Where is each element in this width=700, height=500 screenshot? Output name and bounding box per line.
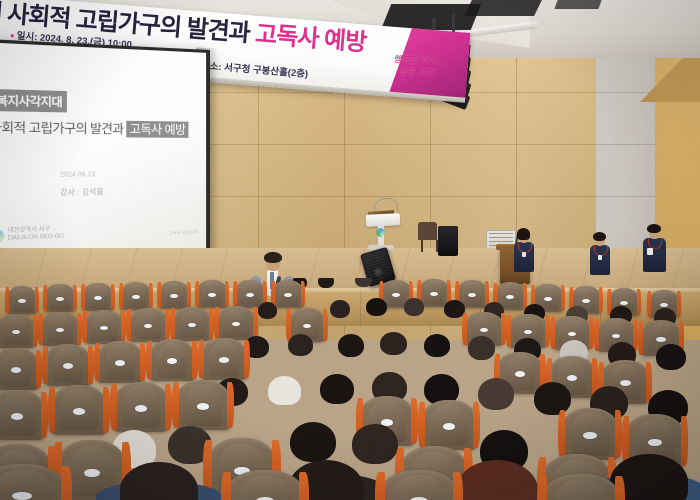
seat: [0, 348, 40, 390]
ceiling-dark-panel: [554, 0, 601, 9]
audience-head: [366, 298, 387, 316]
seat: [40, 312, 80, 346]
audience-head: [380, 332, 407, 355]
audience-head: [258, 302, 277, 319]
auditorium-photo: 대 사회적 고립가구의 발견과 고독사 예방 일시: 2024. 8. 23.(…: [0, 0, 700, 500]
seat-number-label: [506, 295, 513, 299]
slide-org-line2: DAEJEON SEO-GU: [8, 233, 64, 243]
seat: [0, 390, 46, 440]
seat-number-label: [12, 492, 32, 500]
seogu-logo-icon: [0, 230, 4, 243]
slide-date: 2024.08.23.: [60, 172, 97, 179]
slide-lecturer: 강사 : 김석률: [60, 187, 103, 198]
bullet-icon: [11, 34, 14, 37]
banner-title-highlight: 고독사 예방: [254, 21, 367, 57]
projection-screen-frame: 복지사각지대 사회적 고립가구의 발견과 고독사 예방 2024.08.23. …: [0, 39, 210, 267]
audience-head: [468, 336, 495, 360]
slide-tag: 복지사각지대: [0, 89, 67, 112]
seat-number-label: [583, 432, 596, 439]
seat: [44, 344, 92, 386]
seat: [0, 314, 36, 348]
projection-screen: 복지사각지대 사회적 고립가구의 발견과 고독사 예방 2024.08.23. …: [0, 42, 206, 262]
audience-head: [355, 278, 372, 287]
seat-number-label: [84, 469, 100, 478]
banner-slogan-line2: 일등 서구: [379, 66, 453, 80]
seat: [128, 308, 168, 342]
seat-number-label: [208, 293, 215, 297]
stage-equipment-box: [438, 226, 458, 256]
seat-number-label: [170, 294, 177, 298]
seat: [96, 341, 144, 383]
seat: [272, 280, 304, 308]
seat: [50, 385, 108, 435]
staff-badge: [522, 252, 526, 257]
audience-head: [290, 422, 336, 462]
slide-org-logo: 대전광역시 서구 DAEJEON SEO-GU: [0, 226, 64, 244]
seat: [82, 283, 114, 311]
seat: [84, 310, 124, 344]
audience-head: [478, 378, 514, 410]
slide-corner-note: 고독사 예방교육: [168, 229, 198, 236]
seat-number-label: [544, 297, 551, 301]
ceiling-dark-panel: [464, 0, 542, 16]
seat: [200, 338, 248, 380]
staff-papers: [647, 248, 653, 255]
seat-number-label: [392, 293, 399, 297]
seat-number-label: [468, 293, 475, 297]
banner-slogan: 행복한 혁신, 일등 서구: [379, 54, 454, 80]
seat: [216, 306, 256, 340]
seat-number-label: [620, 301, 627, 305]
seat: [148, 339, 196, 381]
seat: [112, 382, 170, 432]
seat-number-label: [18, 299, 25, 303]
lectern-emblem-icon: [376, 228, 385, 237]
presenter-hair: [264, 252, 282, 263]
seat: [120, 282, 152, 310]
seat: [172, 307, 212, 341]
slide-headline-highlight: 고독사 예방: [126, 121, 188, 138]
seat: [158, 281, 190, 309]
presentation-slide: 복지사각지대 사회적 고립가구의 발견과 고독사 예방 2024.08.23. …: [0, 42, 206, 262]
audience-head: [656, 344, 686, 370]
staff-hair: [517, 228, 530, 240]
stage-chair: [418, 222, 437, 240]
audience-head: [288, 334, 313, 356]
seat-number-label: [660, 303, 667, 307]
slide-headline: 사회적 고립가구의 발견과 고독사 예방: [0, 118, 188, 138]
seat: [560, 408, 620, 460]
seat: [174, 380, 232, 430]
seat: [6, 286, 38, 314]
seat-number-label: [56, 297, 63, 301]
seat: [420, 400, 478, 450]
audience-head: [320, 374, 354, 404]
audience-head: [318, 278, 334, 288]
audience-head: [534, 382, 571, 415]
seat-number-label: [246, 293, 253, 297]
audience-head: [330, 300, 350, 318]
seat-number-label: [94, 296, 101, 300]
seat: [44, 284, 76, 312]
staff-hair: [593, 232, 606, 241]
audience-head: [424, 334, 450, 357]
stage-chair-legs: [421, 240, 438, 252]
staff-hair: [647, 224, 661, 233]
seat: [196, 280, 228, 308]
slide-org-text: 대전광역시 서구 DAEJEON SEO-GU: [8, 226, 64, 243]
seat-number-label: [656, 337, 665, 342]
audience-head-cap: [268, 376, 301, 405]
seat-number-label: [284, 293, 291, 297]
audience-head: [338, 334, 364, 357]
seat-number-label: [430, 292, 437, 296]
audience-head: [404, 298, 424, 316]
audience-area: [0, 278, 700, 500]
staff-badge: [598, 255, 602, 260]
seat-number-label: [582, 299, 589, 303]
seat-number-label: [132, 295, 139, 299]
audience-head: [352, 424, 398, 464]
slide-headline-plain: 사회적 고립가구의 발견과: [0, 120, 123, 136]
